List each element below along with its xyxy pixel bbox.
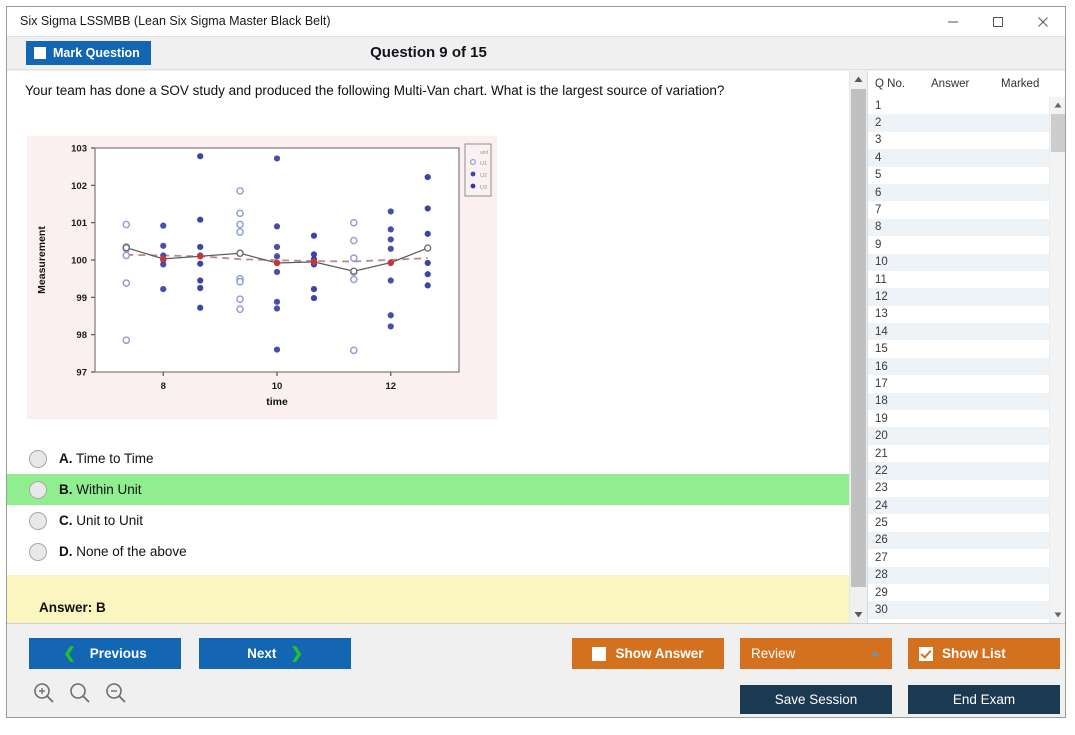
cell-qno: 5 bbox=[868, 169, 924, 181]
title-bar: Six Sigma LSSMBB (Lean Six Sigma Master … bbox=[7, 7, 1065, 37]
table-row[interactable]: 30 bbox=[868, 601, 1049, 618]
end-exam-label: End Exam bbox=[953, 692, 1015, 707]
radio-option-c[interactable] bbox=[29, 512, 47, 530]
option-row-a[interactable]: A. Time to Time bbox=[7, 443, 849, 474]
application-window: Six Sigma LSSMBB (Lean Six Sigma Master … bbox=[6, 6, 1066, 718]
table-row[interactable]: 21 bbox=[868, 445, 1049, 462]
cell-qno: 18 bbox=[868, 395, 924, 407]
svg-text:time: time bbox=[266, 396, 288, 408]
cell-qno: 26 bbox=[868, 534, 924, 546]
svg-text:10: 10 bbox=[272, 381, 283, 392]
question-counter-title: Question 9 of 15 bbox=[7, 44, 1065, 61]
svg-text:98: 98 bbox=[76, 330, 87, 341]
next-label: Next bbox=[247, 646, 276, 661]
cell-qno: 23 bbox=[868, 482, 924, 494]
table-row[interactable]: 1 bbox=[868, 97, 1049, 114]
question-list-body[interactable]: 1234567891011121314151617181920212223242… bbox=[868, 97, 1049, 623]
table-row[interactable]: 11 bbox=[868, 271, 1049, 288]
multi-vari-chart: 97989910010110210381012timeMeasurementun… bbox=[27, 136, 497, 419]
answer-options: A. Time to Time B. Within Unit C. Unit t… bbox=[7, 443, 849, 567]
maximize-icon[interactable] bbox=[975, 7, 1020, 37]
answer-text: Answer: B bbox=[39, 600, 106, 615]
zoom-controls bbox=[31, 680, 129, 706]
option-label-d: D. None of the above bbox=[59, 544, 187, 559]
table-row[interactable]: 10 bbox=[868, 254, 1049, 271]
show-answer-checkbox[interactable] bbox=[592, 647, 606, 661]
svg-text:102: 102 bbox=[71, 181, 87, 192]
table-row[interactable]: 4 bbox=[868, 149, 1049, 166]
app-root: Six Sigma LSSMBB (Lean Six Sigma Master … bbox=[0, 0, 1075, 735]
svg-text:U1: U1 bbox=[480, 161, 487, 167]
cell-qno: 25 bbox=[868, 517, 924, 529]
cell-qno: 21 bbox=[868, 448, 924, 460]
previous-button[interactable]: ❮ Previous bbox=[29, 638, 181, 669]
svg-text:100: 100 bbox=[71, 256, 87, 267]
scroll-up-icon[interactable] bbox=[850, 71, 867, 88]
chevron-right-icon: ❯ bbox=[290, 646, 303, 661]
table-row[interactable]: 29 bbox=[868, 584, 1049, 601]
svg-text:101: 101 bbox=[71, 218, 88, 229]
multi-vari-chart-svg: 97989910010110210381012timeMeasurementun… bbox=[27, 136, 497, 419]
svg-text:unit: unit bbox=[480, 150, 489, 156]
table-row[interactable]: 12 bbox=[868, 288, 1049, 305]
cell-qno: 2 bbox=[868, 117, 924, 129]
radio-option-d[interactable] bbox=[29, 543, 47, 561]
table-row[interactable]: 9 bbox=[868, 236, 1049, 253]
svg-text:U2: U2 bbox=[480, 173, 487, 179]
cell-qno: 11 bbox=[868, 274, 924, 286]
cell-qno: 27 bbox=[868, 552, 924, 564]
review-dropdown[interactable]: Review bbox=[740, 638, 892, 669]
save-session-button[interactable]: Save Session bbox=[740, 685, 892, 714]
table-row[interactable]: 18 bbox=[868, 393, 1049, 410]
cell-qno: 3 bbox=[868, 134, 924, 146]
question-list-scrollbar[interactable] bbox=[1049, 97, 1065, 623]
radio-option-a[interactable] bbox=[29, 450, 47, 468]
show-answer-label: Show Answer bbox=[615, 646, 703, 661]
minimize-icon[interactable] bbox=[930, 7, 975, 37]
question-pane-scrollbar[interactable] bbox=[849, 71, 866, 623]
cell-qno: 14 bbox=[868, 326, 924, 338]
table-row[interactable]: 26 bbox=[868, 532, 1049, 549]
top-toolbar: Mark Question Question 9 of 15 bbox=[7, 37, 1065, 70]
end-exam-button[interactable]: End Exam bbox=[908, 685, 1060, 714]
column-header-answer: Answer bbox=[931, 78, 969, 90]
cell-qno: 29 bbox=[868, 587, 924, 599]
table-row[interactable]: 14 bbox=[868, 323, 1049, 340]
answer-banner: Answer: B bbox=[7, 575, 849, 623]
chevron-left-icon: ❮ bbox=[63, 646, 76, 661]
table-row[interactable]: 20 bbox=[868, 427, 1049, 444]
table-row[interactable]: 7 bbox=[868, 201, 1049, 218]
cell-qno: 19 bbox=[868, 413, 924, 425]
column-header-qno: Q No. bbox=[875, 78, 905, 90]
save-session-label: Save Session bbox=[775, 692, 858, 707]
table-row[interactable]: 23 bbox=[868, 480, 1049, 497]
cell-qno: 15 bbox=[868, 343, 924, 355]
cell-qno: 7 bbox=[868, 204, 924, 216]
option-label-c: C. Unit to Unit bbox=[59, 513, 143, 528]
cell-qno: 30 bbox=[868, 604, 924, 616]
previous-label: Previous bbox=[90, 646, 147, 661]
table-row[interactable]: 25 bbox=[868, 514, 1049, 531]
window-title: Six Sigma LSSMBB (Lean Six Sigma Master … bbox=[20, 14, 331, 28]
cell-qno: 13 bbox=[868, 308, 924, 320]
list-scrollbar-thumb[interactable] bbox=[1051, 114, 1065, 152]
svg-text:103: 103 bbox=[71, 144, 87, 155]
show-list-button[interactable]: Show List bbox=[908, 638, 1060, 669]
cell-qno: 10 bbox=[868, 256, 924, 268]
cell-qno: 22 bbox=[868, 465, 924, 477]
zoom-in-icon[interactable] bbox=[31, 680, 57, 706]
show-list-label: Show List bbox=[942, 646, 1006, 661]
column-header-marked: Marked bbox=[1001, 78, 1039, 90]
table-row[interactable]: 22 bbox=[868, 462, 1049, 479]
question-pane: Your team has done a SOV study and produ… bbox=[7, 71, 849, 623]
cell-qno: 8 bbox=[868, 221, 924, 233]
body-area: Your team has done a SOV study and produ… bbox=[7, 71, 1065, 623]
table-row[interactable]: 24 bbox=[868, 497, 1049, 514]
show-answer-button[interactable]: Show Answer bbox=[572, 638, 724, 669]
table-row[interactable]: 16 bbox=[868, 358, 1049, 375]
show-list-checkbox[interactable] bbox=[919, 647, 933, 661]
table-row[interactable]: 17 bbox=[868, 375, 1049, 392]
option-row-d[interactable]: D. None of the above bbox=[7, 536, 849, 567]
table-row[interactable]: 19 bbox=[868, 410, 1049, 427]
cell-qno: 17 bbox=[868, 378, 924, 390]
cell-qno: 4 bbox=[868, 152, 924, 164]
window-controls bbox=[930, 7, 1065, 37]
review-label: Review bbox=[751, 646, 795, 661]
table-row[interactable]: 28 bbox=[868, 567, 1049, 584]
zoom-out-icon[interactable] bbox=[103, 680, 129, 706]
cell-qno: 1 bbox=[868, 100, 924, 112]
question-text: Your team has done a SOV study and produ… bbox=[25, 82, 815, 100]
list-scroll-down-icon[interactable] bbox=[1050, 607, 1066, 623]
svg-text:12: 12 bbox=[385, 381, 396, 392]
table-row[interactable]: 5 bbox=[868, 167, 1049, 184]
cell-qno: 28 bbox=[868, 569, 924, 581]
option-label-a: A. Time to Time bbox=[59, 451, 154, 466]
chevron-up-icon bbox=[870, 651, 880, 656]
radio-option-b[interactable] bbox=[29, 481, 47, 499]
svg-text:Measurement: Measurement bbox=[36, 226, 48, 294]
table-row[interactable]: 6 bbox=[868, 184, 1049, 201]
cell-qno: 6 bbox=[868, 187, 924, 199]
table-row[interactable]: 15 bbox=[868, 340, 1049, 357]
svg-text:8: 8 bbox=[161, 381, 166, 392]
table-row[interactable]: 3 bbox=[868, 132, 1049, 149]
svg-text:97: 97 bbox=[76, 368, 87, 379]
zoom-reset-icon[interactable] bbox=[67, 680, 93, 706]
next-button[interactable]: Next ❯ bbox=[199, 638, 351, 669]
table-row[interactable]: 8 bbox=[868, 219, 1049, 236]
close-icon[interactable] bbox=[1020, 7, 1065, 37]
option-row-c[interactable]: C. Unit to Unit bbox=[7, 505, 849, 536]
table-row[interactable]: 13 bbox=[868, 306, 1049, 323]
cell-qno: 12 bbox=[868, 291, 924, 303]
table-row[interactable]: 27 bbox=[868, 549, 1049, 566]
list-scroll-up-icon[interactable] bbox=[1050, 97, 1066, 113]
option-label-b: B. Within Unit bbox=[59, 482, 142, 497]
question-list-header: Q No. Answer Marked bbox=[868, 71, 1065, 97]
question-list-panel: Q No. Answer Marked 12345678910111213141… bbox=[867, 71, 1065, 623]
cell-qno: 16 bbox=[868, 361, 924, 373]
svg-text:99: 99 bbox=[76, 293, 87, 304]
scrollbar-thumb[interactable] bbox=[851, 89, 866, 587]
cell-qno: 9 bbox=[868, 239, 924, 251]
option-row-b[interactable]: B. Within Unit bbox=[7, 474, 849, 505]
svg-text:U3: U3 bbox=[480, 185, 487, 191]
table-row[interactable]: 2 bbox=[868, 114, 1049, 131]
cell-qno: 20 bbox=[868, 430, 924, 442]
cell-qno: 24 bbox=[868, 500, 924, 512]
scroll-down-icon[interactable] bbox=[850, 606, 867, 623]
footer-toolbar: ❮ Previous Next ❯ Show Answer Review Sho… bbox=[7, 623, 1065, 717]
